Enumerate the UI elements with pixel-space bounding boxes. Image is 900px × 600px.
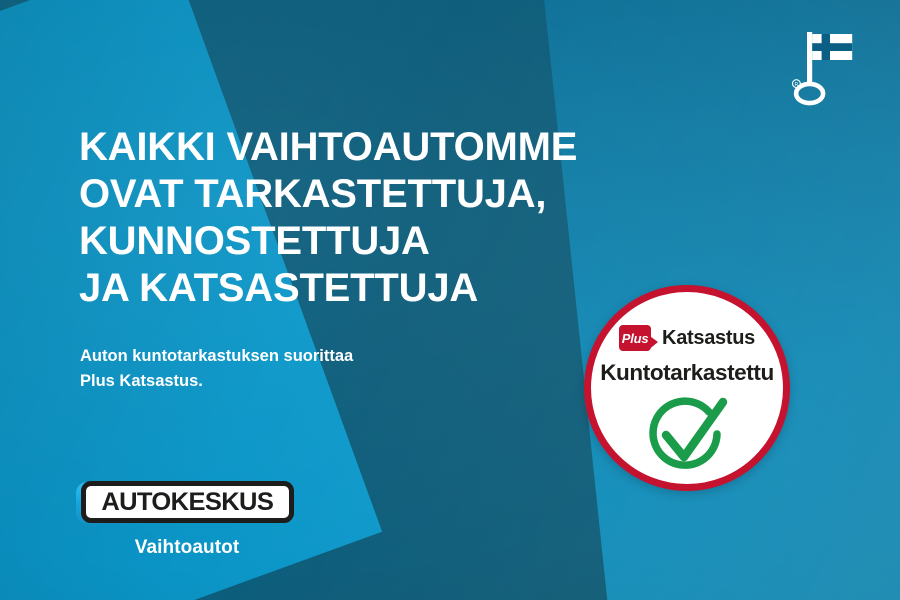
plus-label: Plus (619, 325, 651, 351)
autokeskus-wordmark: AUTOKESKUS (102, 490, 274, 515)
autokeskus-plate-frame: AUTOKESKUS (81, 481, 294, 523)
subtitle-line-1: Auton kuntotarkastuksen suorittaa (80, 344, 510, 369)
svg-text:R: R (795, 82, 799, 88)
kuntotarkastettu-badge: Plus Katsastus Kuntotarkastettu (584, 285, 790, 491)
autokeskus-subbrand: Vaihtoautot (76, 537, 298, 559)
promo-banner: R KAIKKI VAIHTOAUTOMME OVAT TARKASTETTUJ… (0, 0, 900, 600)
green-check-circle-icon (639, 394, 735, 485)
subtitle: Auton kuntotarkastuksen suorittaa Plus K… (80, 344, 510, 394)
autokeskus-logo-block[interactable]: AUTOKESKUS Vaihtoautot (76, 481, 316, 559)
headline-line-4: JA KATSASTETTUJA (79, 265, 679, 312)
badge-title: Kuntotarkastettu (600, 360, 774, 386)
badge-content: Plus Katsastus Kuntotarkastettu (591, 292, 783, 484)
subtitle-line-2: Plus Katsastus. (80, 369, 510, 394)
headline-line-1: KAIKKI VAIHTOAUTOMME (79, 124, 679, 171)
avainlippu-key-flag-icon: R (786, 26, 858, 106)
headline-line-2: OVAT TARKASTETTUJA, (79, 171, 679, 218)
headline-line-3: KUNNOSTETTUJA (79, 218, 679, 265)
headline: KAIKKI VAIHTOAUTOMME OVAT TARKASTETTUJA,… (79, 124, 679, 312)
plus-katsastus-logo: Plus Katsastus (619, 325, 755, 351)
plus-mark-icon: Plus (619, 325, 657, 351)
autokeskus-plate: AUTOKESKUS (76, 481, 298, 525)
katsastus-wordmark: Katsastus (662, 327, 755, 350)
